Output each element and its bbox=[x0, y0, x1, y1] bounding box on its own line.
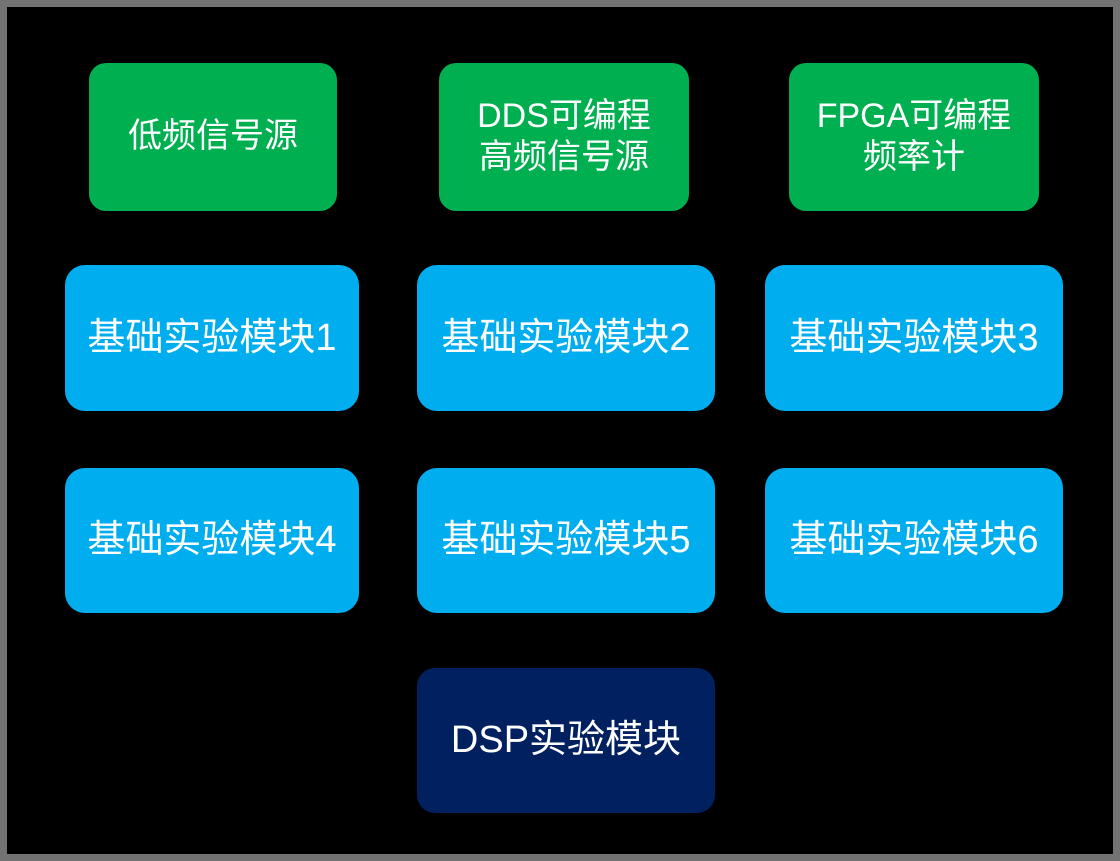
node-dsp-module[interactable]: DSP实验模块 bbox=[417, 668, 715, 813]
node-label: 基础实验模块2 bbox=[425, 315, 707, 361]
node-label: DSP实验模块 bbox=[425, 717, 707, 763]
node-basic-module-3[interactable]: 基础实验模块3 bbox=[765, 265, 1063, 411]
node-label: 低频信号源 bbox=[97, 116, 329, 157]
diagram-canvas: 低频信号源 DDS可编程 高频信号源 FPGA可编程 频率计 基础实验模块1 基… bbox=[0, 0, 1120, 861]
node-label: 基础实验模块4 bbox=[73, 517, 351, 563]
node-label: 基础实验模块6 bbox=[773, 517, 1055, 563]
node-low-freq-source[interactable]: 低频信号源 bbox=[89, 63, 337, 211]
node-basic-module-4[interactable]: 基础实验模块4 bbox=[65, 468, 359, 613]
node-label: 基础实验模块5 bbox=[425, 517, 707, 563]
node-label: 基础实验模块3 bbox=[773, 315, 1055, 361]
node-basic-module-5[interactable]: 基础实验模块5 bbox=[417, 468, 715, 613]
node-label: 基础实验模块1 bbox=[73, 315, 351, 361]
node-label: FPGA可编程 频率计 bbox=[797, 96, 1031, 179]
node-label: DDS可编程 高频信号源 bbox=[447, 96, 681, 179]
node-dds-programmable-hf-source[interactable]: DDS可编程 高频信号源 bbox=[439, 63, 689, 211]
node-fpga-programmable-frequency-counter[interactable]: FPGA可编程 频率计 bbox=[789, 63, 1039, 211]
node-basic-module-2[interactable]: 基础实验模块2 bbox=[417, 265, 715, 411]
node-basic-module-1[interactable]: 基础实验模块1 bbox=[65, 265, 359, 411]
node-basic-module-6[interactable]: 基础实验模块6 bbox=[765, 468, 1063, 613]
